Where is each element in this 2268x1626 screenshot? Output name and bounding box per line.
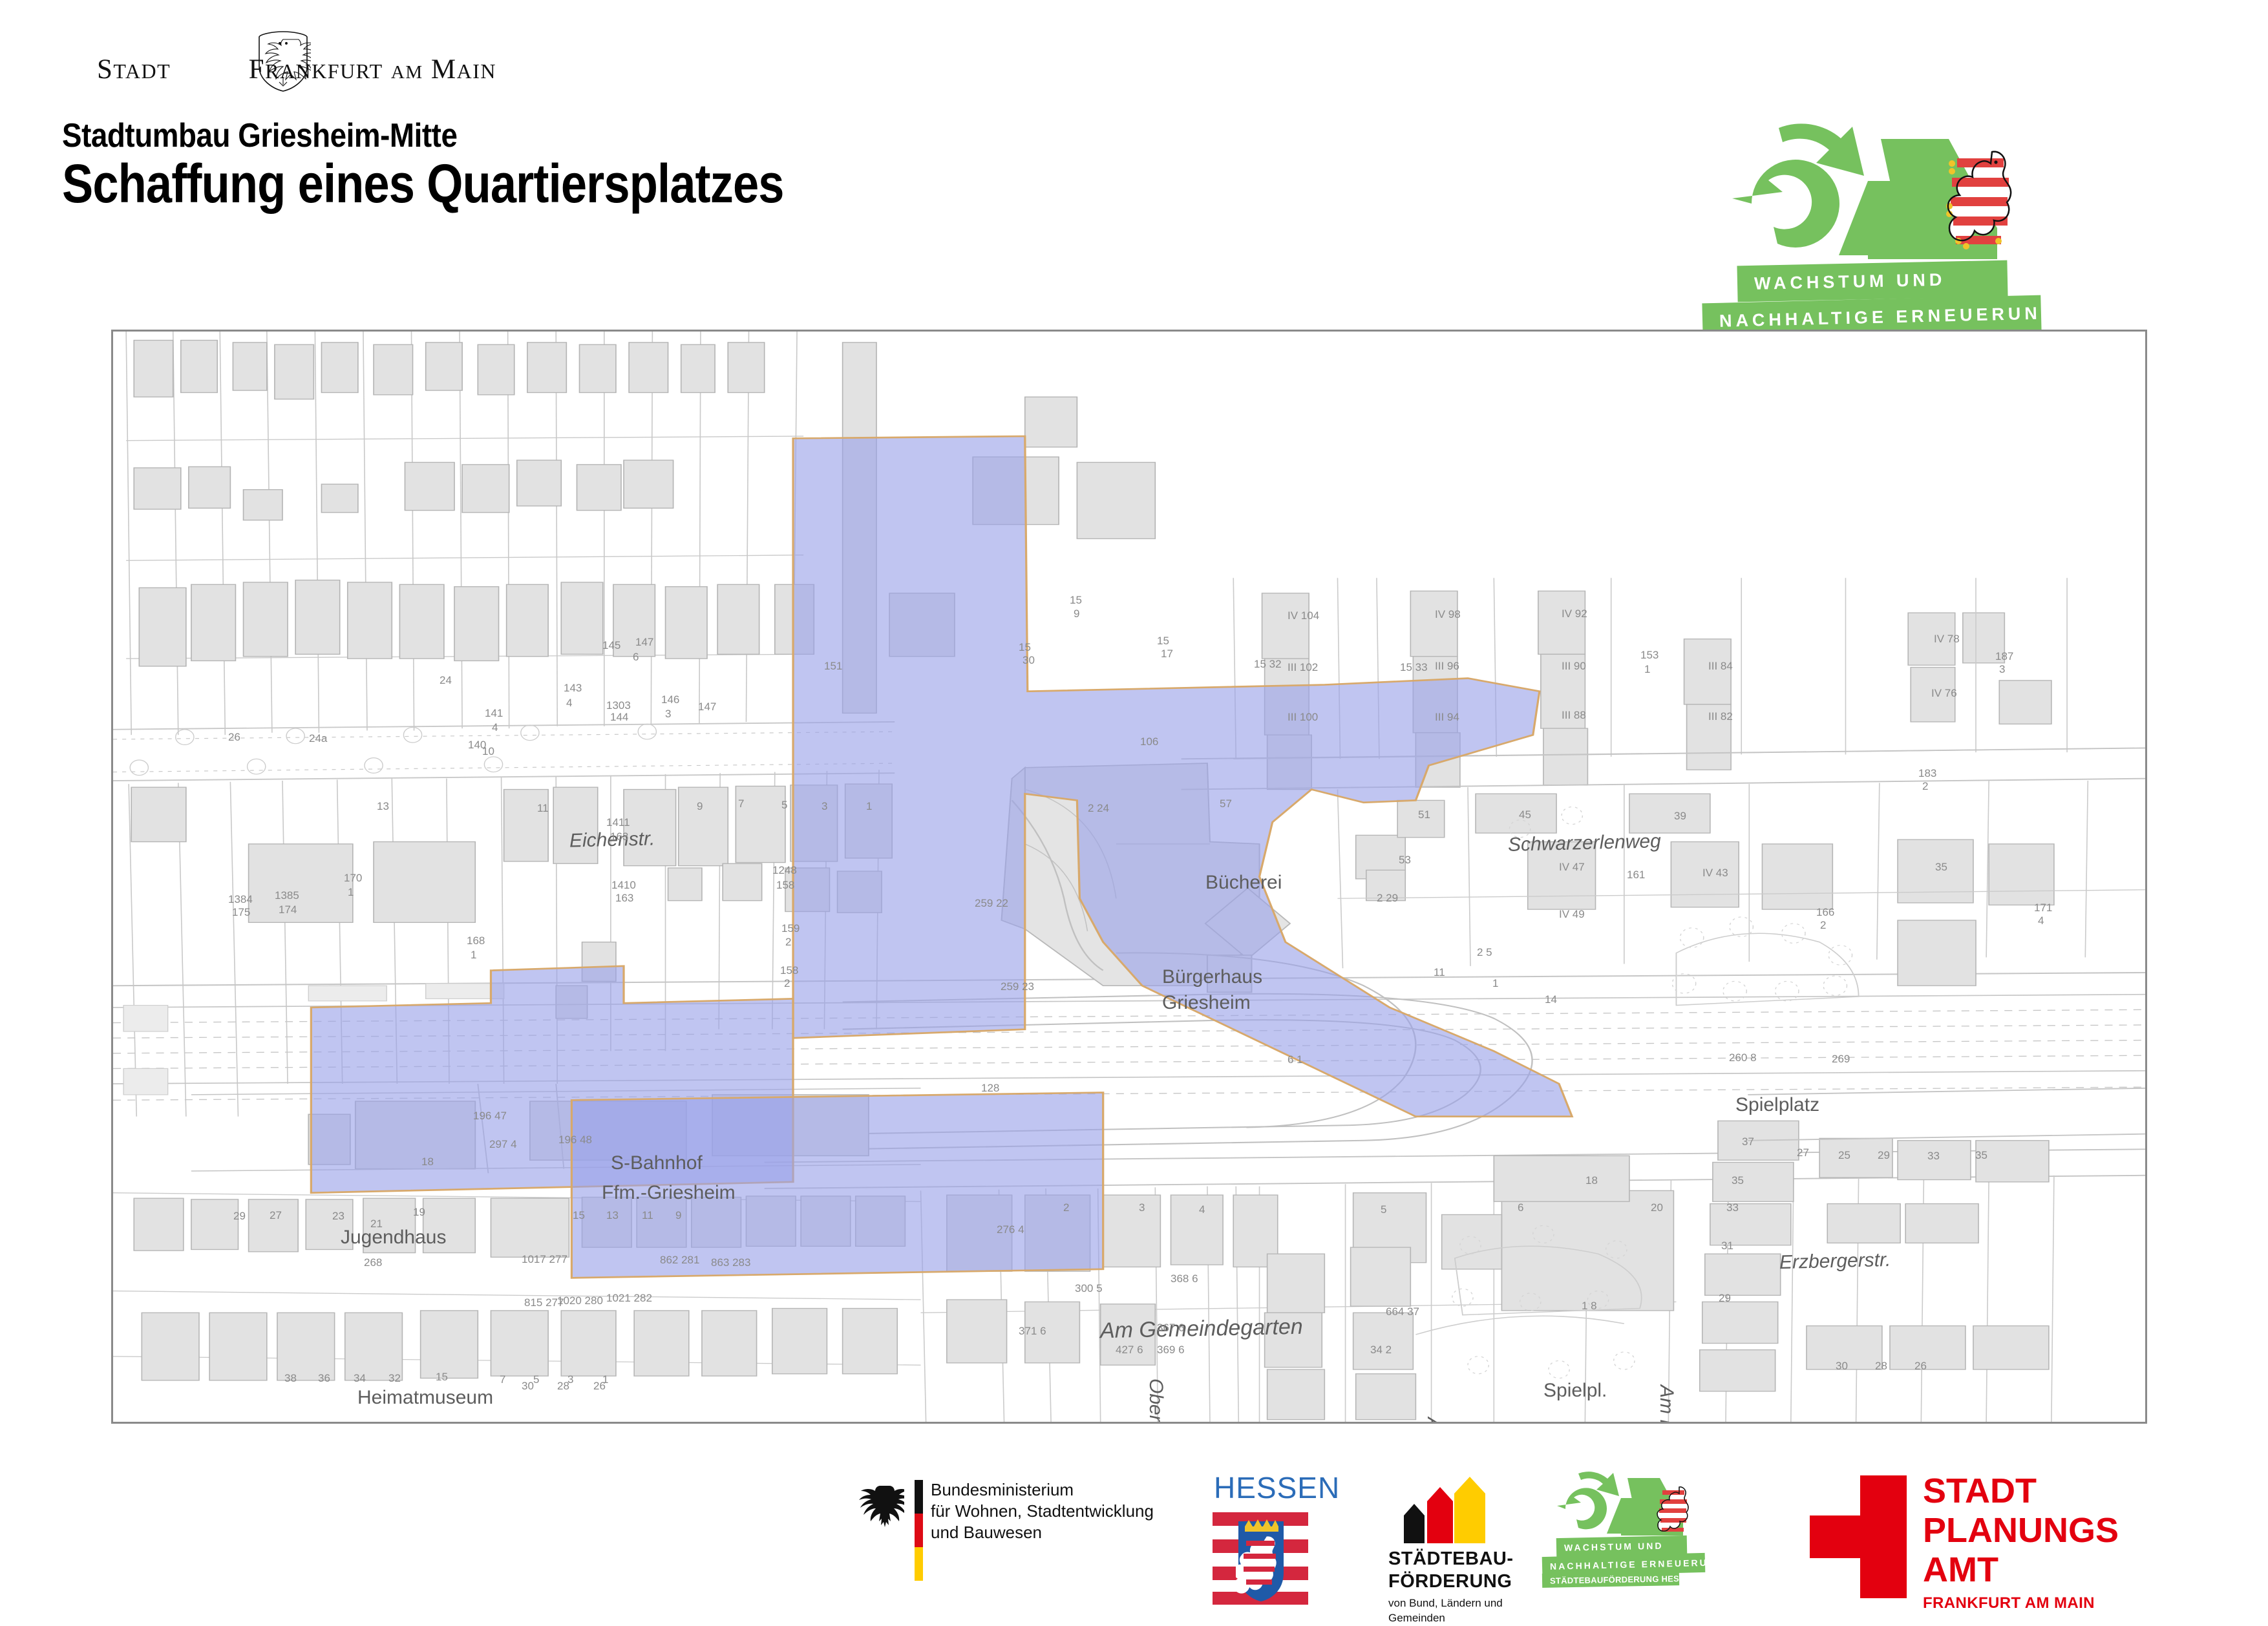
wachstum-und-nachhaltige-erneuerung-logo-small: WACHSTUM UND NACHHALTIGE ERNEUERUNG STÄD… <box>1545 1469 1739 1595</box>
hessen-flag <box>1213 1512 1308 1605</box>
german-flag-bar-red <box>915 1514 923 1547</box>
cadastral-map[interactable]: Eichenstr. Schwarzerlenweg Am Gemeindega… <box>111 330 2147 1424</box>
hessen-lion-shield-icon <box>1236 1517 1286 1603</box>
german-flag-bar-gold <box>915 1547 923 1581</box>
staedtebaufoerderung-sub2: Gemeinden <box>1388 1611 1445 1626</box>
bundesministerium-line1: Bundesministerium <box>931 1479 1074 1501</box>
stadtplanungsamt-subtitle: FRANKFURT AM MAIN <box>1923 1594 2095 1612</box>
page-header: STADT FRANKFURT AM MAIN Stadtumbau Gries… <box>0 0 2268 323</box>
bundesministerium-line3: und Bauwesen <box>931 1522 1042 1543</box>
city-logo-wordmark: STADT FRANKFURT AM MAIN <box>97 54 511 92</box>
page-title: Schaffung eines Quartiersplatzes <box>62 153 784 215</box>
bundesadler-icon <box>856 1482 904 1532</box>
stadtplanungsamt-line2: PLANUNGS <box>1923 1511 2119 1550</box>
hessen-wordmark: HESSEN <box>1214 1470 1340 1505</box>
hessen-lion-icon-small <box>1653 1483 1691 1537</box>
recycling-arrow-tree-icon-small <box>1545 1469 1739 1547</box>
map-canvas <box>113 332 2145 1422</box>
german-flag-bar-black <box>915 1480 923 1514</box>
stadtplanungsamt-mark-icon <box>1810 1475 1907 1598</box>
staedtebaufoerderung-houses-icon <box>1390 1475 1493 1543</box>
bundesministerium-line2: für Wohnen, Stadtentwicklung <box>931 1501 1154 1522</box>
footer-program-band-line3: STÄDTEBAUFÖRDERUNG HESSEN <box>1542 1571 1679 1588</box>
recycling-arrow-tree-icon <box>1706 120 2146 281</box>
funding-logo-bar: Bundesministerium für Wohnen, Stadtentwi… <box>0 1457 2268 1603</box>
hessen-lion-icon <box>1939 144 2017 257</box>
stadtplanungsamt-line3: AMT <box>1923 1550 1998 1589</box>
staedtebaufoerderung-line2: FÖRDERUNG <box>1388 1570 1512 1592</box>
page-subtitle: Stadtumbau Griesheim-Mitte <box>62 116 457 155</box>
stadt-frankfurt-am-main-logo: STADT FRANKFURT AM MAIN <box>97 36 511 90</box>
stadtplanungsamt-line1: STADT <box>1923 1472 2037 1510</box>
staedtebaufoerderung-sub1: von Bund, Ländern und <box>1388 1596 1503 1611</box>
program-band-line1: WACHSTUM UND <box>1737 260 2008 302</box>
staedtebaufoerderung-line1: STÄDTEBAU- <box>1388 1548 1514 1570</box>
